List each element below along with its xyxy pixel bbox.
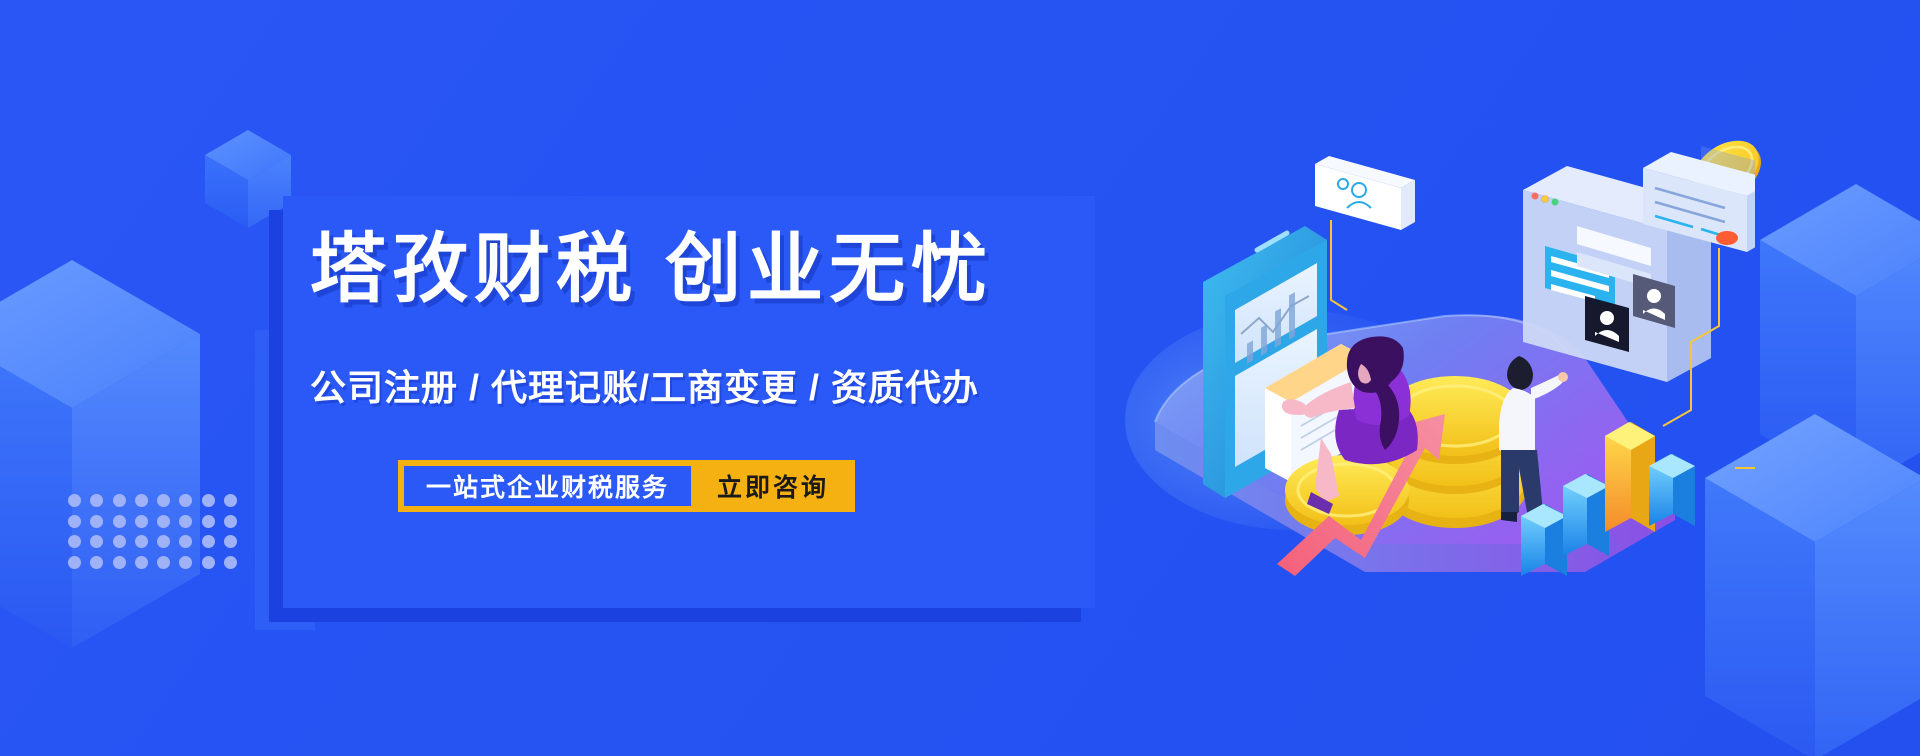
iso-cube-top-left-icon <box>203 128 293 230</box>
iso-cube-left-large-icon <box>0 228 260 648</box>
page-title: 塔孜财税 创业无忧 <box>310 232 1070 308</box>
isometric-fintech-illustration <box>1115 120 1755 590</box>
consult-now-button[interactable]: 立即咨询 <box>691 460 855 512</box>
cta-group: 一站式企业财税服务 立即咨询 <box>398 460 855 512</box>
dot-grid-pattern <box>68 494 246 576</box>
cta-tagline: 一站式企业财税服务 <box>404 466 691 506</box>
promo-banner: 塔孜财税 创业无忧 公司注册 / 代理记账/工商变更 / 资质代办 一站式企业财… <box>0 0 1920 756</box>
contact-card <box>1315 156 1415 230</box>
service-list-subtitle: 公司注册 / 代理记账/工商变更 / 资质代办 <box>310 370 1070 406</box>
connector-line-contact <box>1331 220 1347 310</box>
connector-line-chart <box>1735 326 1755 468</box>
